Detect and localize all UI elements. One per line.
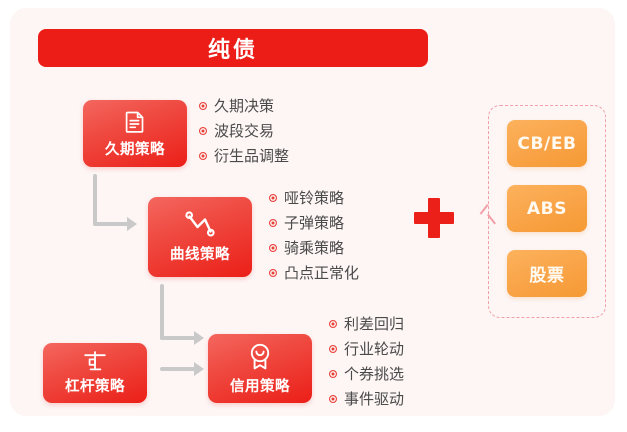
bullet-dot-icon	[199, 102, 207, 110]
asset-card-label: 股票	[529, 261, 564, 286]
lever-scale-icon	[82, 350, 108, 372]
asset-card-label: ABS	[527, 199, 567, 219]
asset-card-stock[interactable]: 股票	[507, 250, 587, 297]
bullet-list-duration: 久期决策 波段交易 衍生品调整	[199, 93, 289, 168]
document-icon	[122, 109, 148, 135]
strategy-card-duration[interactable]: 久期策略	[83, 100, 187, 167]
list-item: 事件驱动	[329, 386, 404, 411]
zigzag-line-icon	[183, 210, 217, 240]
bullet-dot-icon	[329, 395, 337, 403]
medal-badge-icon	[246, 342, 274, 372]
list-item: 行业轮动	[329, 336, 404, 361]
strategy-card-label: 久期策略	[105, 138, 165, 159]
strategy-card-label: 信用策略	[230, 375, 290, 396]
bullet-text: 波段交易	[214, 120, 274, 141]
asset-card-cb-eb[interactable]: CB/EB	[507, 120, 587, 167]
list-item: 凸点正常化	[269, 260, 359, 285]
bullet-dot-icon	[199, 127, 207, 135]
list-item: 久期决策	[199, 93, 289, 118]
bullet-text: 行业轮动	[344, 338, 404, 359]
diagram-panel: 纯债 久期策略 久期决策 波段交易	[10, 8, 615, 416]
bullet-text: 衍生品调整	[214, 145, 289, 166]
bullet-list-credit: 利差回归 行业轮动 个券挑选 事件驱动	[329, 311, 404, 411]
list-item: 利差回归	[329, 311, 404, 336]
bullet-text: 久期决策	[214, 95, 274, 116]
strategy-card-leverage[interactable]: 杠杆策略	[43, 343, 147, 403]
strategy-card-credit[interactable]: 信用策略	[208, 334, 312, 403]
asset-group-pointer-icon	[479, 204, 495, 226]
asset-card-abs[interactable]: ABS	[507, 185, 587, 232]
list-item: 波段交易	[199, 118, 289, 143]
bullet-dot-icon	[199, 152, 207, 160]
bullet-text: 个券挑选	[344, 363, 404, 384]
bullet-list-curve: 哑铃策略 子弹策略 骑乘策略 凸点正常化	[269, 185, 359, 285]
list-item: 个券挑选	[329, 361, 404, 386]
plus-sign	[414, 198, 454, 238]
page-title: 纯债	[208, 32, 258, 64]
list-item: 哑铃策略	[269, 185, 359, 210]
bullet-dot-icon	[329, 320, 337, 328]
bullet-dot-icon	[329, 345, 337, 353]
strategy-card-label: 曲线策略	[170, 243, 230, 264]
bullet-text: 骑乘策略	[284, 237, 344, 258]
flow-arrow-curve-to-credit	[160, 284, 208, 344]
flow-arrow-leverage-to-credit	[160, 362, 208, 376]
list-item: 骑乘策略	[269, 235, 359, 260]
bullet-dot-icon	[329, 370, 337, 378]
bullet-dot-icon	[269, 194, 277, 202]
bullet-text: 子弹策略	[284, 212, 344, 233]
bullet-dot-icon	[269, 244, 277, 252]
bullet-text: 哑铃策略	[284, 187, 344, 208]
list-item: 子弹策略	[269, 210, 359, 235]
strategy-card-curve[interactable]: 曲线策略	[148, 197, 252, 277]
bullet-text: 事件驱动	[344, 388, 404, 409]
strategy-card-label: 杠杆策略	[65, 375, 125, 396]
page-title-banner: 纯债	[38, 29, 428, 67]
list-item: 衍生品调整	[199, 143, 289, 168]
asset-card-label: CB/EB	[517, 134, 576, 154]
bullet-text: 凸点正常化	[284, 262, 359, 283]
bullet-dot-icon	[269, 219, 277, 227]
bullet-text: 利差回归	[344, 313, 404, 334]
bullet-dot-icon	[269, 269, 277, 277]
diagram-root: 纯债 久期策略 久期决策 波段交易	[0, 0, 627, 432]
flow-arrow-duration-to-curve	[93, 174, 141, 230]
